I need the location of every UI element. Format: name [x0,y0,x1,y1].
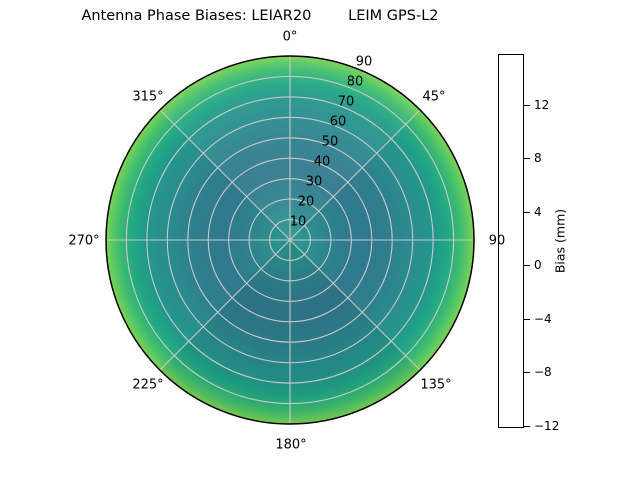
colorbar-tick-0 [524,265,530,266]
colorbar-axis-label: Bias (mm) [553,209,568,273]
theta-tick-label-45: 45° [422,90,445,105]
colorbar-tick-neg4 [524,319,530,320]
theta-tick-label-180: 180° [275,438,306,453]
colorbar-tick-neg8 [524,372,530,373]
theta-tick-label-135: 135° [420,378,451,393]
colorbar-ticklabel-8: 8 [534,151,542,165]
theta-tick-label-315: 315° [132,90,163,105]
colorbar-gradient [498,54,524,428]
figure-canvas: Antenna Phase Biases: LEIAR20 LEIM GPS-L… [0,0,640,480]
theta-tick-label-270: 270° [68,234,99,249]
r-tick-label-30: 30 [306,175,323,190]
polar-axes[interactable]: 10 20 30 40 50 60 70 80 90 [106,56,474,424]
colorbar-tick-8 [524,158,530,159]
colorbar-tick-12 [524,105,530,106]
colorbar-ticklabel-neg8: −8 [534,365,552,379]
figure-title: Antenna Phase Biases: LEIAR20 LEIM GPS-L… [0,8,520,24]
r-tick-label-90: 90 [356,55,373,70]
r-tick-label-70: 70 [338,95,355,110]
colorbar-ticklabel-4: 4 [534,205,542,219]
r-tick-label-20: 20 [298,195,315,210]
theta-tick-label-0: 0° [283,30,298,45]
polar-plot-svg [106,56,474,424]
r-tick-label-40: 40 [314,155,331,170]
colorbar[interactable]: 12 8 4 0 −4 −8 −12 [498,54,524,428]
r-tick-label-10: 10 [290,215,307,230]
r-tick-label-50: 50 [322,135,339,150]
colorbar-ticklabel-12: 12 [534,98,549,112]
colorbar-tick-neg12 [524,426,530,427]
angular-gridlines [106,56,474,424]
colorbar-ticklabel-neg4: −4 [534,312,552,326]
colorbar-tick-4 [524,212,530,213]
colorbar-ticklabel-neg12: −12 [534,419,559,433]
r-tick-label-80: 80 [347,75,364,90]
r-tick-label-60: 60 [330,115,347,130]
colorbar-ticklabel-0: 0 [534,258,542,272]
theta-tick-label-225: 225° [132,378,163,393]
